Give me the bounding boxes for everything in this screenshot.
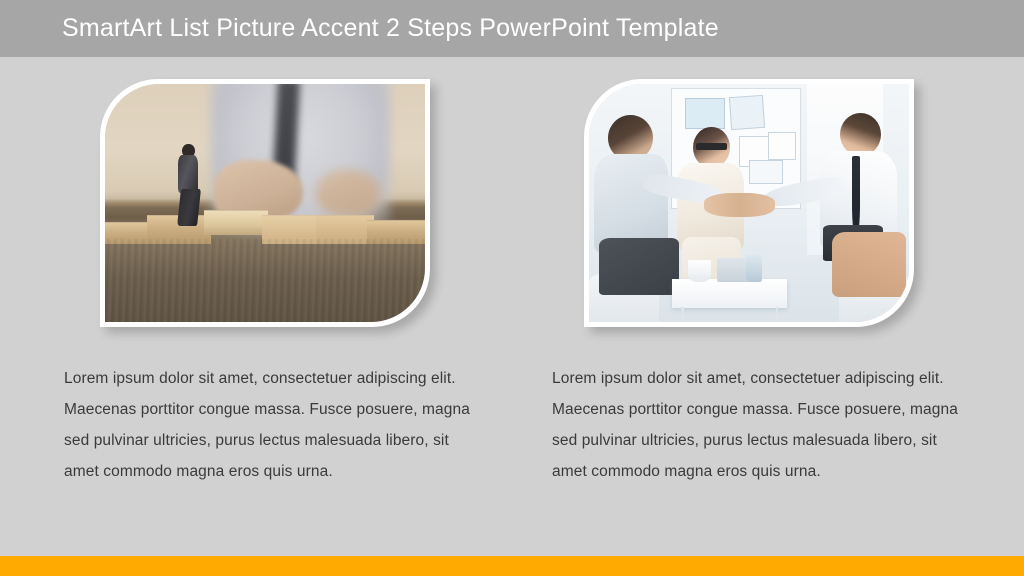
coffee-cup bbox=[688, 260, 710, 281]
coffee-table bbox=[672, 279, 787, 308]
table-leg-right bbox=[776, 307, 779, 321]
miniature-businessman-figure bbox=[172, 144, 204, 227]
right-person-head bbox=[840, 113, 881, 156]
wooden-table-surface bbox=[105, 239, 425, 322]
right-person-necktie bbox=[852, 156, 860, 236]
wood-block-3 bbox=[204, 210, 268, 235]
photo-wooden-blocks-image bbox=[105, 84, 425, 322]
person-seated-right bbox=[816, 113, 906, 294]
whiteboard-note-5 bbox=[749, 160, 783, 183]
slide-header-band: SmartArt List Picture Accent 2 Steps Pow… bbox=[0, 0, 1024, 57]
photo-business-handshake-image bbox=[589, 84, 909, 322]
right-person-legs bbox=[832, 232, 905, 297]
content-column-step-1: Lorem ipsum dolor sit amet, consectetuer… bbox=[64, 57, 494, 556]
water-glass bbox=[746, 255, 762, 281]
handshake bbox=[704, 193, 774, 217]
eyeglasses bbox=[696, 143, 726, 150]
person-seated-left bbox=[592, 115, 678, 291]
figure-torso bbox=[178, 155, 198, 193]
footer-accent-bar bbox=[0, 556, 1024, 576]
body-text-step-1: Lorem ipsum dolor sit amet, consectetuer… bbox=[64, 363, 476, 487]
page-title: SmartArt List Picture Accent 2 Steps Pow… bbox=[62, 0, 719, 57]
figure-legs bbox=[177, 189, 201, 226]
picture-step-1 bbox=[105, 84, 425, 322]
picture-step-2 bbox=[589, 84, 909, 322]
second-hand-shape bbox=[316, 170, 380, 218]
picture-frame-step-1[interactable] bbox=[100, 79, 430, 327]
slide: SmartArt List Picture Accent 2 Steps Pow… bbox=[0, 0, 1024, 576]
whiteboard-note-2 bbox=[729, 95, 765, 130]
left-person-legs bbox=[599, 238, 678, 294]
content-column-step-2: Lorem ipsum dolor sit amet, consectetuer… bbox=[548, 57, 978, 556]
whiteboard-note-4 bbox=[768, 132, 796, 160]
body-text-step-2: Lorem ipsum dolor sit amet, consectetuer… bbox=[552, 363, 964, 487]
table-leg-left bbox=[681, 307, 684, 321]
picture-frame-step-2[interactable] bbox=[584, 79, 914, 327]
whiteboard-note-1 bbox=[685, 98, 725, 129]
content-columns: Lorem ipsum dolor sit amet, consectetuer… bbox=[0, 57, 1024, 556]
